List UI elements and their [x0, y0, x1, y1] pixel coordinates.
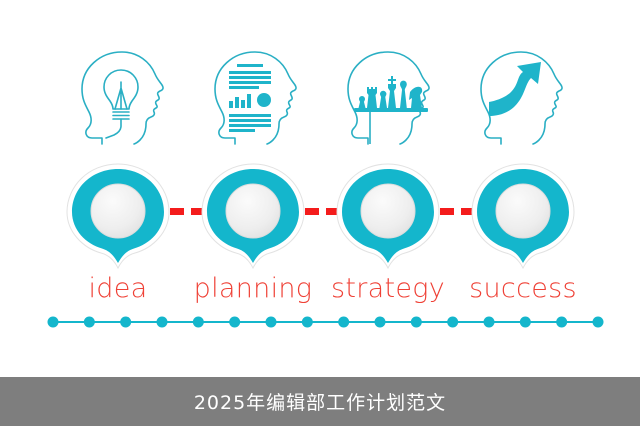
pin-marker-strategy[interactable] — [333, 160, 443, 272]
timeline-dots — [0, 312, 640, 332]
pin-marker-row — [0, 160, 640, 272]
timeline-dot — [48, 317, 59, 328]
timeline-dot — [447, 317, 458, 328]
pin-marker-planning[interactable] — [198, 160, 308, 272]
timeline-dot — [266, 317, 277, 328]
timeline-dot — [593, 317, 604, 328]
pin-marker-success[interactable] — [468, 160, 578, 272]
caption-bar: 2025年编辑部工作计划范文 — [0, 377, 640, 426]
timeline-dot — [556, 317, 567, 328]
infographic-slide: idea planning strategy success 2025年编辑部工… — [0, 0, 640, 426]
head-arrow-icon — [459, 44, 589, 152]
timeline-dot — [120, 317, 131, 328]
head-chess-icon — [326, 44, 456, 152]
timeline-dot — [157, 317, 168, 328]
caption-text: 2025年编辑部工作计划范文 — [194, 388, 446, 415]
timeline-dot — [84, 317, 95, 328]
timeline-dot — [520, 317, 531, 328]
head-lightbulb-icon — [60, 44, 190, 152]
timeline-dot — [229, 317, 240, 328]
timeline-dot — [338, 317, 349, 328]
pin-marker-idea[interactable] — [63, 160, 173, 272]
step-label-success: success — [433, 272, 613, 306]
timeline-dot — [193, 317, 204, 328]
head-icon-row — [0, 44, 640, 152]
timeline-dot — [375, 317, 386, 328]
step-label-row: idea planning strategy success — [0, 272, 640, 312]
timeline-dot — [411, 317, 422, 328]
head-report-icon — [193, 44, 323, 152]
timeline-dot — [302, 317, 313, 328]
timeline-dot — [484, 317, 495, 328]
